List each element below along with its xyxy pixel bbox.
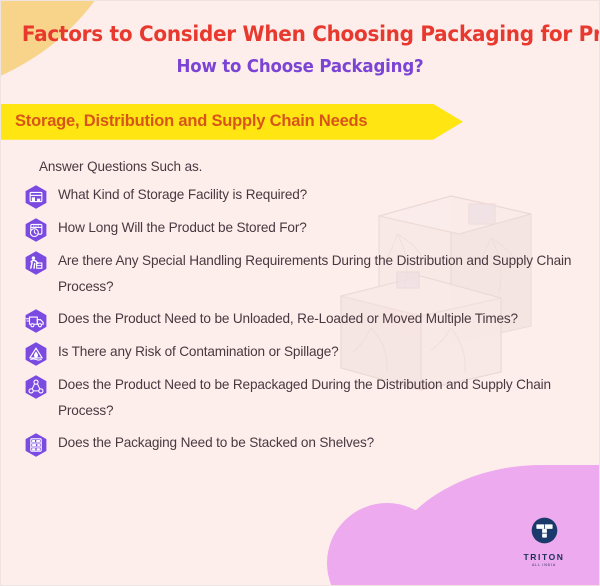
triton-mark-icon	[531, 517, 558, 544]
question-text: Are there Any Special Handling Requireme…	[58, 248, 581, 301]
question-text: What Kind of Storage Facility is Require…	[58, 182, 307, 209]
shelving-rack-icon	[23, 432, 49, 458]
list-item: How Long Will the Product be Stored For?	[1, 219, 599, 243]
lead-in-text: Answer Questions Such as.	[39, 159, 599, 174]
section-banner: Storage, Distribution and Supply Chain N…	[1, 104, 463, 140]
page-title: Factors to Consider When Choosing Packag…	[22, 23, 578, 48]
logo-tagline: ALL INDIA	[513, 563, 575, 567]
delivery-truck-icon	[23, 308, 49, 334]
list-item: Does the Product Need to be Unloaded, Re…	[1, 310, 599, 334]
calendar-clock-icon	[23, 217, 49, 243]
list-item: What Kind of Storage Facility is Require…	[1, 186, 599, 210]
question-text: Does the Product Need to be Unloaded, Re…	[58, 306, 518, 333]
manual-handling-icon	[23, 250, 49, 276]
question-text: Is There any Risk of Contamination or Sp…	[58, 339, 339, 366]
question-text: Does the Packaging Need to be Stacked on…	[58, 430, 374, 457]
list-item: Is There any Risk of Contamination or Sp…	[1, 343, 599, 367]
question-text: Does the Product Need to be Repackaged D…	[58, 372, 581, 425]
spill-hazard-icon	[23, 341, 49, 367]
triton-logo: TRITON ALL INDIA	[513, 517, 575, 567]
list-item: Does the Packaging Need to be Stacked on…	[1, 434, 599, 458]
question-text: How Long Will the Product be Stored For?	[58, 215, 307, 242]
infographic-poster: Factors to Consider When Choosing Packag…	[0, 0, 600, 586]
logo-wordmark: TRITON	[513, 552, 575, 562]
questions-section: Answer Questions Such as. What Kind of S…	[1, 140, 599, 458]
list-item: Does the Product Need to be Repackaged D…	[1, 376, 599, 425]
questions-list: What Kind of Storage Facility is Require…	[1, 186, 599, 458]
section-banner-label: Storage, Distribution and Supply Chain N…	[1, 112, 367, 131]
page-subtitle: How to Choose Packaging?	[16, 57, 584, 77]
list-item: Are there Any Special Handling Requireme…	[1, 252, 599, 301]
warehouse-icon	[23, 184, 49, 210]
poster-header: Factors to Consider When Choosing Packag…	[1, 1, 599, 77]
repackaging-network-icon	[23, 374, 49, 400]
